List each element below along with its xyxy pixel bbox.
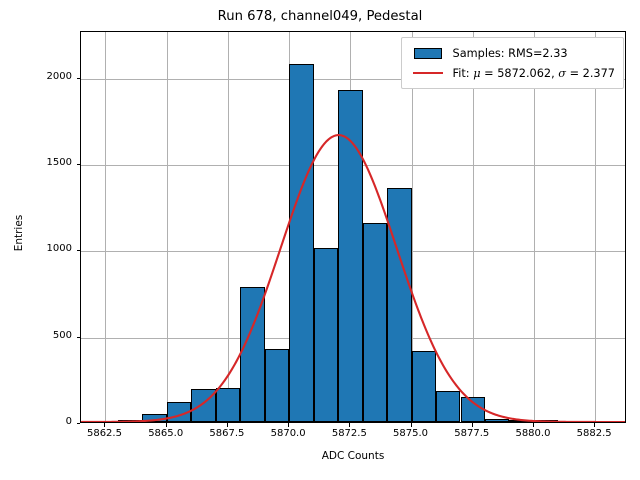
plot-axes-area (80, 31, 626, 423)
y-tick-label: 1000 (12, 243, 72, 254)
x-tick-label: 5872.5 (314, 428, 384, 439)
y-tick-mark (77, 164, 81, 165)
x-tick-label: 5867.5 (192, 428, 262, 439)
x-tick-label: 5875.0 (376, 428, 446, 439)
chart-title: Run 678, channel049, Pedestal (0, 9, 640, 24)
x-tick-label: 5877.5 (437, 428, 507, 439)
x-tick-label: 5862.5 (69, 428, 139, 439)
legend-sigma-symbol: σ (558, 67, 566, 80)
y-tick-mark (77, 423, 81, 424)
gaussian-fit-curve (81, 32, 625, 422)
x-tick-mark (533, 423, 534, 427)
legend-line-icon (409, 72, 447, 74)
y-tick-mark (77, 78, 81, 79)
legend-fit-prefix: Fit: (453, 67, 474, 80)
x-tick-mark (227, 423, 228, 427)
x-tick-label: 5882.5 (559, 428, 629, 439)
x-tick-mark (349, 423, 350, 427)
x-tick-mark (411, 423, 412, 427)
y-tick-mark (77, 250, 81, 251)
y-tick-label: 1500 (12, 157, 72, 168)
x-tick-mark (472, 423, 473, 427)
x-tick-mark (166, 423, 167, 427)
x-tick-mark (594, 423, 595, 427)
legend-swatch-icon (409, 48, 447, 59)
x-axis-label: ADC Counts (80, 450, 626, 462)
legend-mu-value: = 5872.062, (481, 67, 559, 80)
y-tick-label: 2000 (12, 71, 72, 82)
legend-sigma-value: = 2.377 (566, 67, 615, 80)
x-tick-mark (104, 423, 105, 427)
chart-legend: Samples: RMS=2.33 Fit: μ = 5872.062, σ =… (401, 37, 624, 89)
legend-entry-fit: Fit: μ = 5872.062, σ = 2.377 (409, 63, 615, 83)
x-tick-label: 5870.0 (253, 428, 323, 439)
legend-mu-symbol: μ (473, 67, 480, 80)
y-tick-mark (77, 337, 81, 338)
figure-canvas: Run 678, channel049, Pedestal ADC Counts… (0, 0, 640, 480)
legend-label-samples: Samples: RMS=2.33 (447, 47, 568, 60)
x-tick-label: 5880.0 (498, 428, 568, 439)
x-tick-label: 5865.0 (131, 428, 201, 439)
legend-entry-samples: Samples: RMS=2.33 (409, 43, 615, 63)
x-tick-mark (288, 423, 289, 427)
y-tick-label: 0 (12, 416, 72, 427)
y-tick-label: 500 (12, 330, 72, 341)
legend-label-fit: Fit: μ = 5872.062, σ = 2.377 (447, 67, 615, 80)
